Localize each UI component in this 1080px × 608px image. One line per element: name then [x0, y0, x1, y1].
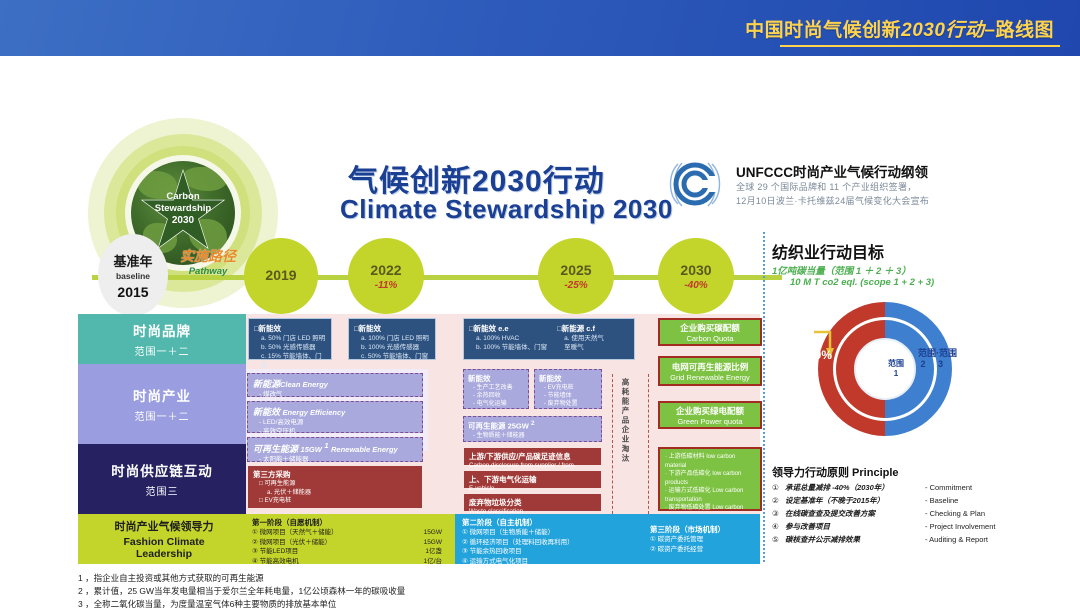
- pathway-label: 实施路径 Pathway: [169, 246, 247, 277]
- stage-1-block[interactable]: 第一阶段（自愿机制） ① 微网项目（天然气＋储能） 15GW ② 微网项目（光伏…: [252, 517, 442, 566]
- timeline-node-year: 2030: [680, 262, 711, 278]
- principle-title: 领导力行动原则 Principle: [772, 464, 899, 480]
- box-heading-cn: 新能效: [539, 373, 597, 384]
- principle-en: - Project Involvement: [925, 520, 995, 533]
- stage-row-label: ③ 节能LED项目: [252, 547, 298, 557]
- box-item: · 运输方式低碳化 Low carbon: [665, 487, 755, 496]
- box-subtext: Green Power quota: [677, 417, 742, 426]
- industry-clean-energy-box[interactable]: 新能源Clean Energy - 煤改气: [247, 373, 423, 397]
- box-item: a. 100% 门店 LED 照明: [361, 334, 430, 343]
- timeline-node-2030[interactable]: 2030 -40%: [658, 238, 734, 314]
- stage-row-value: 1亿盏: [425, 547, 442, 557]
- supply-third-party-box[interactable]: 第三方采购 □ 可再生能源 a. 光伏＋储能器 □ EV充电桩: [247, 465, 423, 509]
- timeline-node-pct: -11%: [375, 280, 398, 291]
- industry-2025-renewable-box[interactable]: 可再生能源 25GW 2 - 生物质能＋储能器: [463, 416, 602, 442]
- principle-row: ① 承诺总量减排 -40%（2030年） - Commitment: [772, 481, 1062, 494]
- industry-renewable-box[interactable]: 可再生能源 15GW 1 Renewable Energy - 太阳能＋储能器: [247, 437, 423, 462]
- main-title-en: Climate Stewardship 2030: [340, 194, 673, 225]
- stage-3-title: 第三阶段（市场机制）: [650, 524, 760, 535]
- timeline-node-pct: -40%: [684, 280, 707, 291]
- unfccc-line-2: 12月10日波兰·卡托维兹24届气候变化大会宣布: [736, 194, 929, 207]
- brand-box-2022[interactable]: □新能效 a. 100% 门店 LED 照明 b. 100% 光感传感器 c. …: [348, 318, 436, 360]
- box-item: - LED/高效电源: [259, 418, 417, 427]
- pathway-en: Pathway: [169, 266, 247, 277]
- globe-continent-icon: [183, 167, 227, 191]
- stage-3-row: ① 碳资产委托管理: [650, 535, 760, 545]
- principle-en: - Baseline: [925, 494, 958, 507]
- stage-row-value: 15GW: [424, 538, 442, 548]
- right-panel-sub-2: 10 M T co2 eql. (scope 1 + 2 + 3): [790, 277, 934, 288]
- header-title-emphasis: 2030行动: [901, 20, 984, 41]
- box-footnote-marker: 1: [324, 441, 328, 450]
- right-panel-divider: [763, 232, 765, 562]
- box-item: 至暖气: [564, 343, 604, 352]
- box-heading-cn: 可再生能源: [253, 444, 298, 454]
- donut-label-40: 40%: [808, 348, 832, 362]
- principle-num: ②: [772, 494, 785, 507]
- stage-1-row: ② 微网项目（光伏＋储能） 15GW: [252, 538, 442, 548]
- principle-row: ④ 参与改善项目 - Project Involvement: [772, 520, 1062, 533]
- right-panel-title: 纺织业行动目标: [772, 239, 884, 263]
- leadership-en-2: Leadership: [84, 548, 244, 560]
- divider-vertical-right: [648, 374, 649, 514]
- box-heading-cn: 新能效: [253, 407, 280, 417]
- principle-list: ① 承诺总量减排 -40%（2030年） - Commitment ② 设定基准…: [772, 481, 1062, 546]
- box-heading: □新能效 e.e: [469, 323, 547, 334]
- box-heading: □新能效: [354, 323, 430, 334]
- box-item: c. 15% 节能墙体、门窗: [261, 352, 326, 370]
- timeline-node-pct: -25%: [564, 280, 587, 291]
- timeline-node-year: 2022: [370, 262, 401, 278]
- box-item: - 余热回收: [473, 392, 524, 400]
- principle-cn: 在线碳查查及提交改善方案: [785, 507, 925, 520]
- baseline-label-en: baseline: [116, 271, 150, 281]
- box-heading: 电网可再生能源比例: [672, 361, 749, 373]
- leadership-cn: 时尚产业气候领导力: [84, 518, 244, 534]
- stage-2-row: ① 微网项目（生物质能＋储能）: [462, 528, 622, 538]
- stage-1-row: ① 微网项目（天然气＋储能） 15GW: [252, 528, 442, 538]
- unfccc-heading: UNFCCC时尚产业气候行动纲领: [736, 161, 928, 181]
- timeline-node-year: 2025: [560, 262, 591, 278]
- box-item: · 废弃物低碳处置 Low carbon: [665, 504, 755, 513]
- header-title-suffix: –路线图: [984, 20, 1054, 41]
- category-fashion-brand[interactable]: 时尚品牌 范围一＋二: [78, 314, 246, 364]
- category-scope: 范围一＋二: [135, 408, 190, 423]
- brand-box-2019[interactable]: □新能效 a. 50% 门店 LED 照明 b. 50% 光感传感器 c. 15…: [248, 318, 332, 360]
- fashion-climate-leadership: 时尚产业气候领导力 Fashion Climate Leadership: [84, 518, 244, 560]
- baseline-label-cn: 基准年: [113, 251, 152, 270]
- right-panel-sub-1: 1亿吨碳当量（范围 1 ＋ 2 ＋ 3）: [772, 263, 911, 277]
- footnote-1: 1 ，指企业自主投资或其他方式获取的可再生能源: [78, 572, 778, 585]
- box-item: b. 100% 光感传感器: [361, 343, 430, 352]
- box-item: - 废弃物处置: [544, 400, 597, 408]
- box-item: c. 50% 节能墙体、门窗: [361, 352, 430, 361]
- box-item: - 高效空压机: [259, 427, 417, 436]
- box-item: □ EV充电桩: [259, 497, 417, 506]
- emblem-text: Carbon Stewardship 2030: [131, 191, 235, 227]
- box-item: transportation: [665, 496, 755, 505]
- box-heading: 企业购买绿电配额: [676, 405, 744, 417]
- footnote-3: 3 ，全称二氧化碳当量，为度量温室气体6种主要物质的排放基本单位: [78, 598, 778, 608]
- principle-cn: 承诺总量减排 -40%（2030年）: [785, 481, 925, 494]
- box-heading: 废弃物垃圾分类: [469, 497, 596, 508]
- stage-2-block[interactable]: 第二阶段（自主机制） ① 微网项目（生物质能＋储能） ② 循环经济项目（处理料回…: [462, 517, 622, 566]
- box-heading-note: 15GW: [301, 445, 322, 454]
- box-item: - 煤改气: [259, 390, 417, 399]
- principle-cn: 碳核查并公示减排效果: [785, 533, 925, 546]
- divider-vertical-left: [612, 374, 613, 514]
- box-item: b. 100% 节能墙体、门窗: [476, 343, 547, 352]
- brand-box-2025-left: □新能效 e.e a. 100% HVAC b. 100% 节能墙体、门窗: [469, 323, 547, 352]
- page-header: 中国时尚气候创新2030行动–路线图: [0, 0, 1080, 56]
- box-heading: □新能源 c.f: [557, 323, 604, 334]
- stage-2-row: ② 循环经济项目（处理料回收再利用）: [462, 538, 622, 548]
- box-item: a. 光伏＋储能器: [267, 489, 417, 498]
- stage-3-row: ② 碳资产委托经营: [650, 545, 760, 555]
- category-label-cn: 时尚供应链互动: [111, 460, 213, 480]
- box-item: a. 使用天然气: [564, 334, 604, 343]
- stage-row-label: ④ 节能高效电机: [252, 557, 299, 567]
- box-item: - 电气化运输: [473, 400, 524, 408]
- stage-row-value: 15GW: [424, 528, 442, 538]
- footnotes: 1 ，指企业自主投资或其他方式获取的可再生能源 2 ，累计值，25 GW当年发电…: [78, 572, 778, 608]
- box-heading: □新能效: [254, 323, 326, 334]
- principle-num: ③: [772, 507, 785, 520]
- header-title: 中国时尚气候创新2030行动–路线图: [745, 15, 1080, 42]
- box-heading-cn: 可再生能源: [468, 422, 506, 431]
- supply-waste-classification-box[interactable]: 废弃物垃圾分类 Waste classification: [463, 493, 602, 512]
- emblem-line-3: 2030: [131, 215, 235, 227]
- timeline-node-2025[interactable]: 2025 -25%: [538, 238, 614, 314]
- principle-row: ③ 在线碳查查及提交改善方案 - Checking & Plan: [772, 507, 1062, 520]
- unfccc-line-1: 全球 29 个国际品牌和 11 个产业组织签署，: [736, 180, 917, 193]
- box-heading-cn: 新能源: [253, 379, 280, 389]
- principle-num: ④: [772, 520, 785, 533]
- category-supply-chain[interactable]: 时尚供应链互动 范围三: [78, 444, 246, 514]
- stage-3-block[interactable]: 第三阶段（市场机制） ① 碳资产委托管理 ② 碳资产委托经营: [650, 524, 760, 555]
- box-heading: 上游/下游供应/产品碳足迹信息: [469, 451, 596, 462]
- timeline-node-2019[interactable]: 2019: [244, 238, 318, 314]
- pathway-cn: 实施路径: [169, 246, 247, 266]
- stage-1-row: ③ 节能LED项目 1亿盏: [252, 547, 442, 557]
- emblem-line-2: Stewardship: [131, 203, 235, 215]
- industry-2025-box-b[interactable]: 新能效 - EV充电桩 - 节能墙体 - 废弃物处置: [534, 369, 602, 409]
- box-item: a. 50% 门店 LED 照明: [261, 334, 326, 343]
- principle-num: ①: [772, 481, 785, 494]
- box-heading-en: Energy Efficiency: [283, 408, 346, 417]
- timeline-node-2022[interactable]: 2022 -11%: [348, 238, 424, 314]
- box-heading-en: Clean Energy: [280, 380, 328, 389]
- category-label-cn: 时尚产业: [133, 385, 191, 405]
- box-subtext: E-vehicle: [469, 485, 596, 492]
- industry-energy-efficiency-box[interactable]: 新能效 Energy Efficiency - LED/高效电源 - 高效空压机: [247, 401, 423, 433]
- box-heading: 第三方采购: [253, 469, 417, 480]
- box-heading: 企业购买碳配额: [680, 322, 740, 334]
- box-item: - 生物质能＋储能器: [473, 432, 597, 440]
- supply-carbon-disclosure-box[interactable]: 上游/下游供应/产品碳足迹信息 Carbon disclosure from s…: [463, 447, 602, 466]
- brand-box-2025-right: □新能源 c.f a. 使用天然气 至暖气: [557, 323, 604, 352]
- stage-row-label: ① 微网项目（天然气＋储能）: [252, 528, 338, 538]
- stage-1-row: ④ 节能高效电机 1亿/台: [252, 557, 442, 567]
- green-box-green-power-quota[interactable]: 企业购买绿电配额 Green Power quota: [658, 401, 762, 429]
- supply-evehicle-box[interactable]: 上、下游电气化运输 E-vehicle: [463, 470, 602, 489]
- green-box-low-carbon-list[interactable]: · 上游低碳材料 low carbon material · 下游产品低碳化 l…: [658, 447, 762, 511]
- industry-2025-box-a[interactable]: 新能效 - 生产工艺改善 - 余热回收 - 电气化运输: [463, 369, 529, 409]
- box-heading-note: 25GW: [508, 422, 529, 431]
- leadership-en-1: Fashion Climate: [84, 536, 244, 548]
- principle-row: ② 设定基准年（不晚于2015年） - Baseline: [772, 494, 1062, 507]
- principle-en: - Auditing & Report: [925, 533, 988, 546]
- category-fashion-industry[interactable]: 时尚产业 范围一＋二: [78, 364, 246, 444]
- category-label-cn: 时尚品牌: [133, 320, 191, 340]
- box-subtext: Carbon Quota: [686, 334, 733, 343]
- box-heading-cn: 新能效: [468, 373, 524, 384]
- principle-en: - Checking & Plan: [925, 507, 985, 520]
- stage-2-title: 第二阶段（自主机制）: [462, 517, 622, 528]
- header-underline: [780, 45, 1060, 47]
- timeline-baseline-node: 基准年 baseline 2015: [98, 234, 168, 316]
- unfccc-logo-icon: [664, 154, 726, 216]
- slide-body: Carbon Stewardship 2030 气候创新2030行动 Clima…: [0, 56, 1080, 608]
- donut-legend-scope-23: 范围·范围 2 3: [918, 348, 957, 370]
- timeline-node-year: 2019: [265, 267, 296, 283]
- principle-en: - Commitment: [925, 481, 972, 494]
- category-scope: 范围三: [146, 483, 179, 498]
- box-heading-en: Renewable Energy: [331, 445, 398, 454]
- box-item: - 节能墙体: [544, 392, 597, 400]
- box-item: - EV充电桩: [544, 384, 597, 392]
- box-item: · 上游低碳材料 low carbon material: [665, 453, 755, 470]
- principle-row: ⑤ 碳核查并公示减排效果 - Auditing & Report: [772, 533, 1062, 546]
- brand-box-2025[interactable]: □新能效 e.e a. 100% HVAC b. 100% 节能墙体、门窗 □新…: [463, 318, 635, 360]
- stage-row-value: 1亿/台: [424, 557, 442, 567]
- stage-2-row: ④ 运输方式电气化项目: [462, 557, 622, 567]
- box-item: a. 100% HVAC: [476, 334, 547, 343]
- principle-num: ⑤: [772, 533, 785, 546]
- green-box-grid-renewable[interactable]: 电网可再生能源比例 Grid Renewable Energy: [658, 356, 762, 386]
- emblem-line-1: Carbon: [131, 191, 235, 203]
- donut-legend-scope-1: 范围1: [888, 359, 904, 379]
- phase-out-label: 高耗能产品企业淘汰: [620, 378, 631, 498]
- box-item: □ 可再生能源: [259, 480, 417, 489]
- box-item: - 生产工艺改善: [473, 384, 524, 392]
- principle-cn: 参与改善项目: [785, 520, 925, 533]
- green-box-carbon-quota[interactable]: 企业购买碳配额 Carbon Quota: [658, 318, 762, 346]
- principle-cn: 设定基准年（不晚于2015年）: [785, 494, 925, 507]
- stage-1-title: 第一阶段（自愿机制）: [252, 517, 442, 528]
- footnote-2: 2 ，累计值，25 GW当年发电量相当于爱尔兰全年耗电量，1亿公顷森林一年的碳吸…: [78, 585, 778, 598]
- box-item: - 太阳能＋储能器: [259, 455, 417, 464]
- stage-2-row: ③ 节能余热回收项目: [462, 547, 622, 557]
- box-item: · 下游产品低碳化 low carbon products: [665, 470, 755, 487]
- box-subtext: Grid Renewable Energy: [670, 373, 750, 382]
- header-title-prefix: 中国时尚气候创新: [745, 20, 901, 41]
- box-heading: 上、下游电气化运输: [469, 474, 596, 485]
- category-scope: 范围一＋二: [135, 343, 190, 358]
- box-footnote-marker: 2: [531, 420, 534, 427]
- baseline-year: 2015: [117, 284, 148, 300]
- box-item: b. 50% 光感传感器: [261, 343, 326, 352]
- stage-row-label: ② 微网项目（光伏＋储能）: [252, 538, 331, 548]
